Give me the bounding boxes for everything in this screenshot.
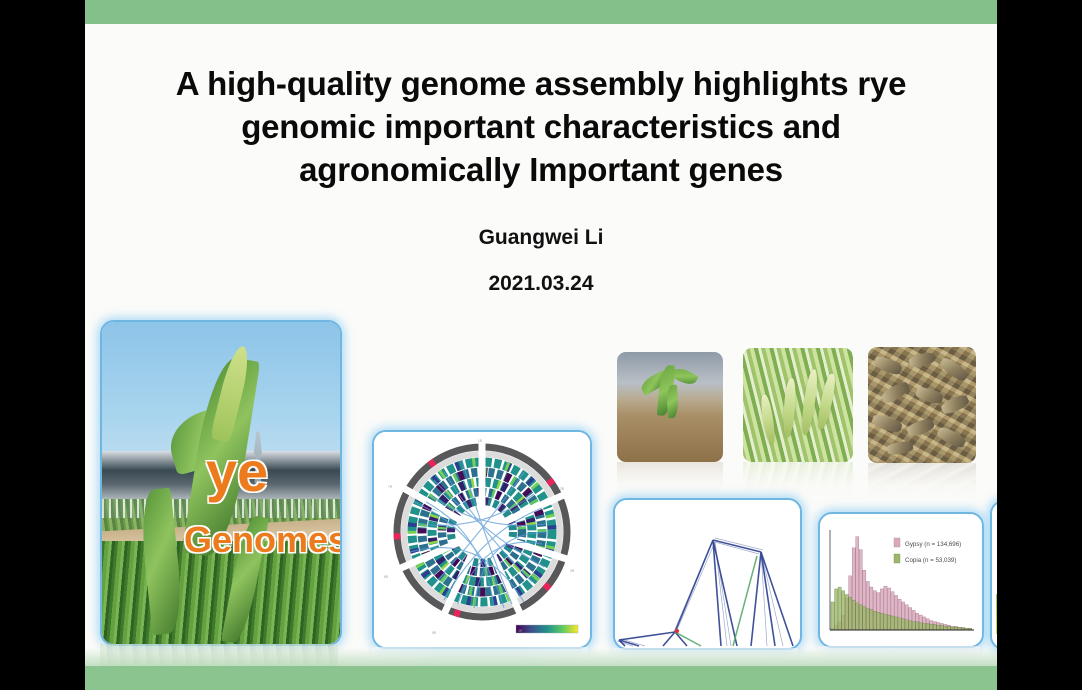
histogram-bar	[877, 612, 880, 630]
histogram-bar	[933, 624, 936, 630]
svg-text:5R: 5R	[432, 631, 437, 635]
title-line-1: A high-quality genome assembly highlight…	[85, 62, 997, 105]
legend-swatch-copia	[894, 554, 900, 563]
rye-grain-photo-reflection	[868, 463, 976, 499]
circos-colorbar	[516, 625, 578, 633]
svg-text:3R: 3R	[570, 569, 575, 573]
histogram-bar	[940, 625, 943, 630]
circos-svg: 1R2R 3R4R 5R6R 7R	[374, 432, 590, 647]
rye-anther-photo-reflection	[743, 462, 853, 498]
histogram-bar	[916, 622, 919, 630]
network-highlight-node	[675, 629, 679, 633]
title-line-2: genomic important characteristics and	[85, 105, 997, 148]
rye-grain-photo[interactable]	[868, 347, 976, 463]
svg-text:7R: 7R	[388, 485, 393, 489]
histogram-bar	[856, 603, 859, 630]
letterbox-right	[997, 0, 1082, 690]
circos-plot[interactable]: 1R2R 3R4R 5R6R 7R	[372, 430, 592, 649]
histogram-bar	[930, 624, 933, 630]
svg-text:6R: 6R	[384, 575, 389, 579]
histogram-bar	[909, 621, 912, 630]
presentation-slide: A high-quality genome assembly highlight…	[85, 0, 997, 690]
rye-seedling-image	[617, 352, 723, 462]
logo-genomes-text: Genomes	[184, 522, 342, 558]
histogram-bar	[852, 600, 855, 630]
histogram-bar	[937, 625, 940, 630]
circos-plot-image: 1R2R 3R4R 5R6R 7R	[374, 432, 590, 647]
logo-ye-text: ye	[206, 444, 268, 500]
rye-seedling-photo[interactable]	[617, 352, 723, 462]
rye-anther-image	[743, 348, 853, 462]
histogram-bar	[947, 626, 950, 630]
ltr-insertion-histogram[interactable]: Gypsy (n = 134,696) Copia (n = 53,039)	[818, 512, 984, 648]
histogram-bar	[838, 587, 841, 630]
histogram-bar	[898, 618, 901, 630]
phylogenetic-network-plot[interactable]	[613, 498, 802, 650]
histogram-bar	[905, 620, 908, 630]
letterbox-left	[0, 0, 85, 690]
histogram-bar	[842, 591, 845, 630]
screen: A high-quality genome assembly highlight…	[0, 0, 1082, 690]
partial-figure-panel-right[interactable]	[990, 500, 997, 650]
histogram-bar	[944, 626, 947, 630]
rye-seedling-photo-reflection	[617, 462, 723, 498]
histogram-bar	[835, 589, 838, 630]
histogram-bar	[919, 623, 922, 630]
title-line-3: agronomically Important genes	[85, 148, 997, 191]
histogram-bar	[870, 609, 873, 630]
histogram-bar	[894, 617, 897, 630]
phylogenetic-network-svg	[615, 500, 800, 648]
rye-field-photo[interactable]: ye Genomes	[100, 320, 342, 646]
histogram-bar	[923, 623, 926, 630]
ltr-insertion-histogram-svg: Gypsy (n = 134,696) Copia (n = 53,039)	[820, 514, 982, 646]
rye-anther-photo[interactable]	[743, 348, 853, 462]
histogram-bar	[845, 595, 848, 630]
histogram-bar	[884, 614, 887, 630]
histogram-bar	[873, 611, 876, 630]
svg-text:4R: 4R	[518, 629, 523, 633]
histogram-bar	[891, 616, 894, 630]
histogram-bar	[902, 619, 905, 630]
histogram-bar	[926, 623, 929, 630]
presentation-date: 2021.03.24	[85, 272, 997, 296]
legend-label-gypsy: Gypsy (n = 134,696)	[905, 541, 961, 548]
legend-swatch-gypsy	[894, 538, 900, 547]
histogram-bar	[880, 613, 883, 630]
histogram-bar	[859, 605, 862, 630]
bottom-green-band	[85, 666, 997, 690]
histogram-bar	[831, 602, 834, 630]
rye-grain-image	[868, 347, 976, 463]
svg-text:2R: 2R	[560, 487, 565, 491]
histogram-bar	[912, 622, 915, 630]
bottom-fade	[85, 648, 997, 668]
author-name: Guangwei Li	[85, 226, 997, 250]
histogram-bar	[866, 609, 869, 630]
histogram-bar	[849, 597, 852, 630]
svg-text:1R: 1R	[478, 439, 483, 443]
page-title: A high-quality genome assembly highlight…	[85, 62, 997, 191]
top-green-band	[85, 0, 997, 24]
histogram-bar	[863, 607, 866, 630]
histogram-bar	[887, 615, 890, 630]
legend-label-copia: Copia (n = 53,039)	[905, 557, 956, 564]
